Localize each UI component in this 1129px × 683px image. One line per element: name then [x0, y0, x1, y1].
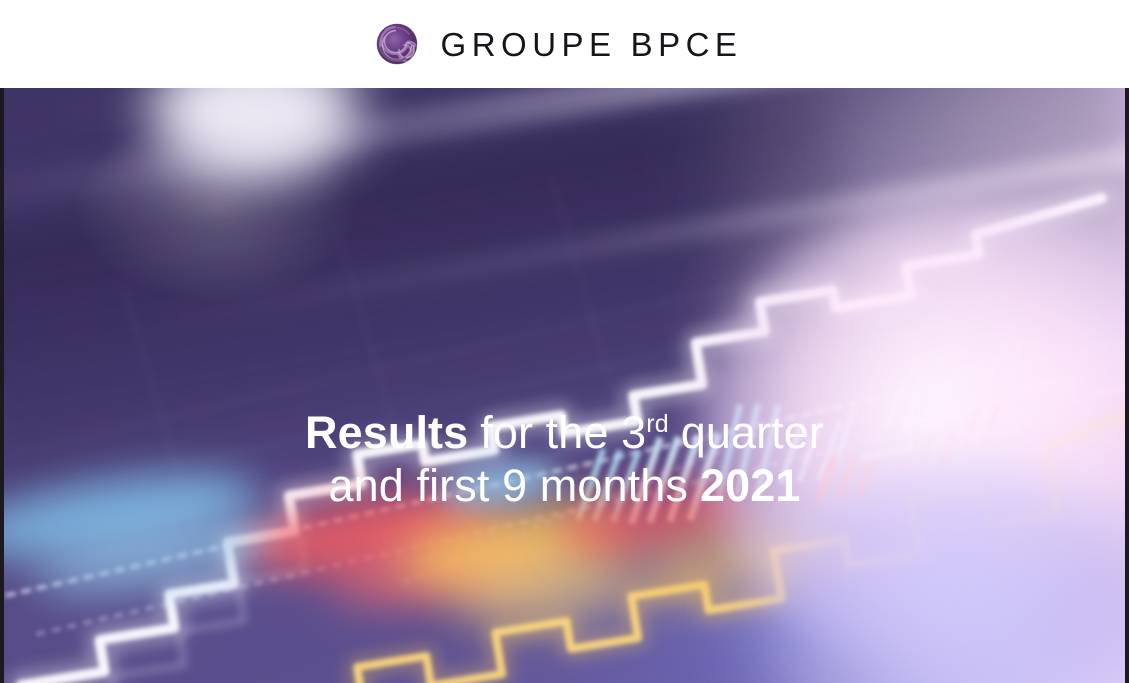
brand-wordmark: GROUPEBPCE [441, 28, 743, 61]
title-and-first-9-months: and first 9 months [329, 460, 688, 511]
image-edge-left [0, 88, 4, 683]
title-year: 2021 [700, 460, 801, 511]
brand-lockup: GROUPEBPCE [375, 22, 743, 66]
title-results-word: Results [305, 407, 468, 458]
hero-background-image [0, 88, 1129, 683]
title-line-1: Resultsfor the 3rdquarter [0, 406, 1129, 459]
image-edge-right [1125, 88, 1129, 683]
slide-title: Resultsfor the 3rdquarter and first 9 mo… [0, 406, 1129, 512]
bpce-swirl-logo-icon [375, 22, 419, 66]
brand-word-bpce: BPCE [631, 26, 743, 63]
presentation-slide: GROUPEBPCE [0, 0, 1129, 683]
title-quarter-word: quarter [681, 407, 824, 458]
title-for-the-3: for the 3 [480, 407, 646, 458]
brand-word-groupe: GROUPE [441, 26, 617, 63]
slide-header: GROUPEBPCE [0, 0, 1129, 88]
title-ordinal-suffix: rd [646, 410, 668, 438]
title-line-2: and first 9 months2021 [0, 459, 1129, 512]
